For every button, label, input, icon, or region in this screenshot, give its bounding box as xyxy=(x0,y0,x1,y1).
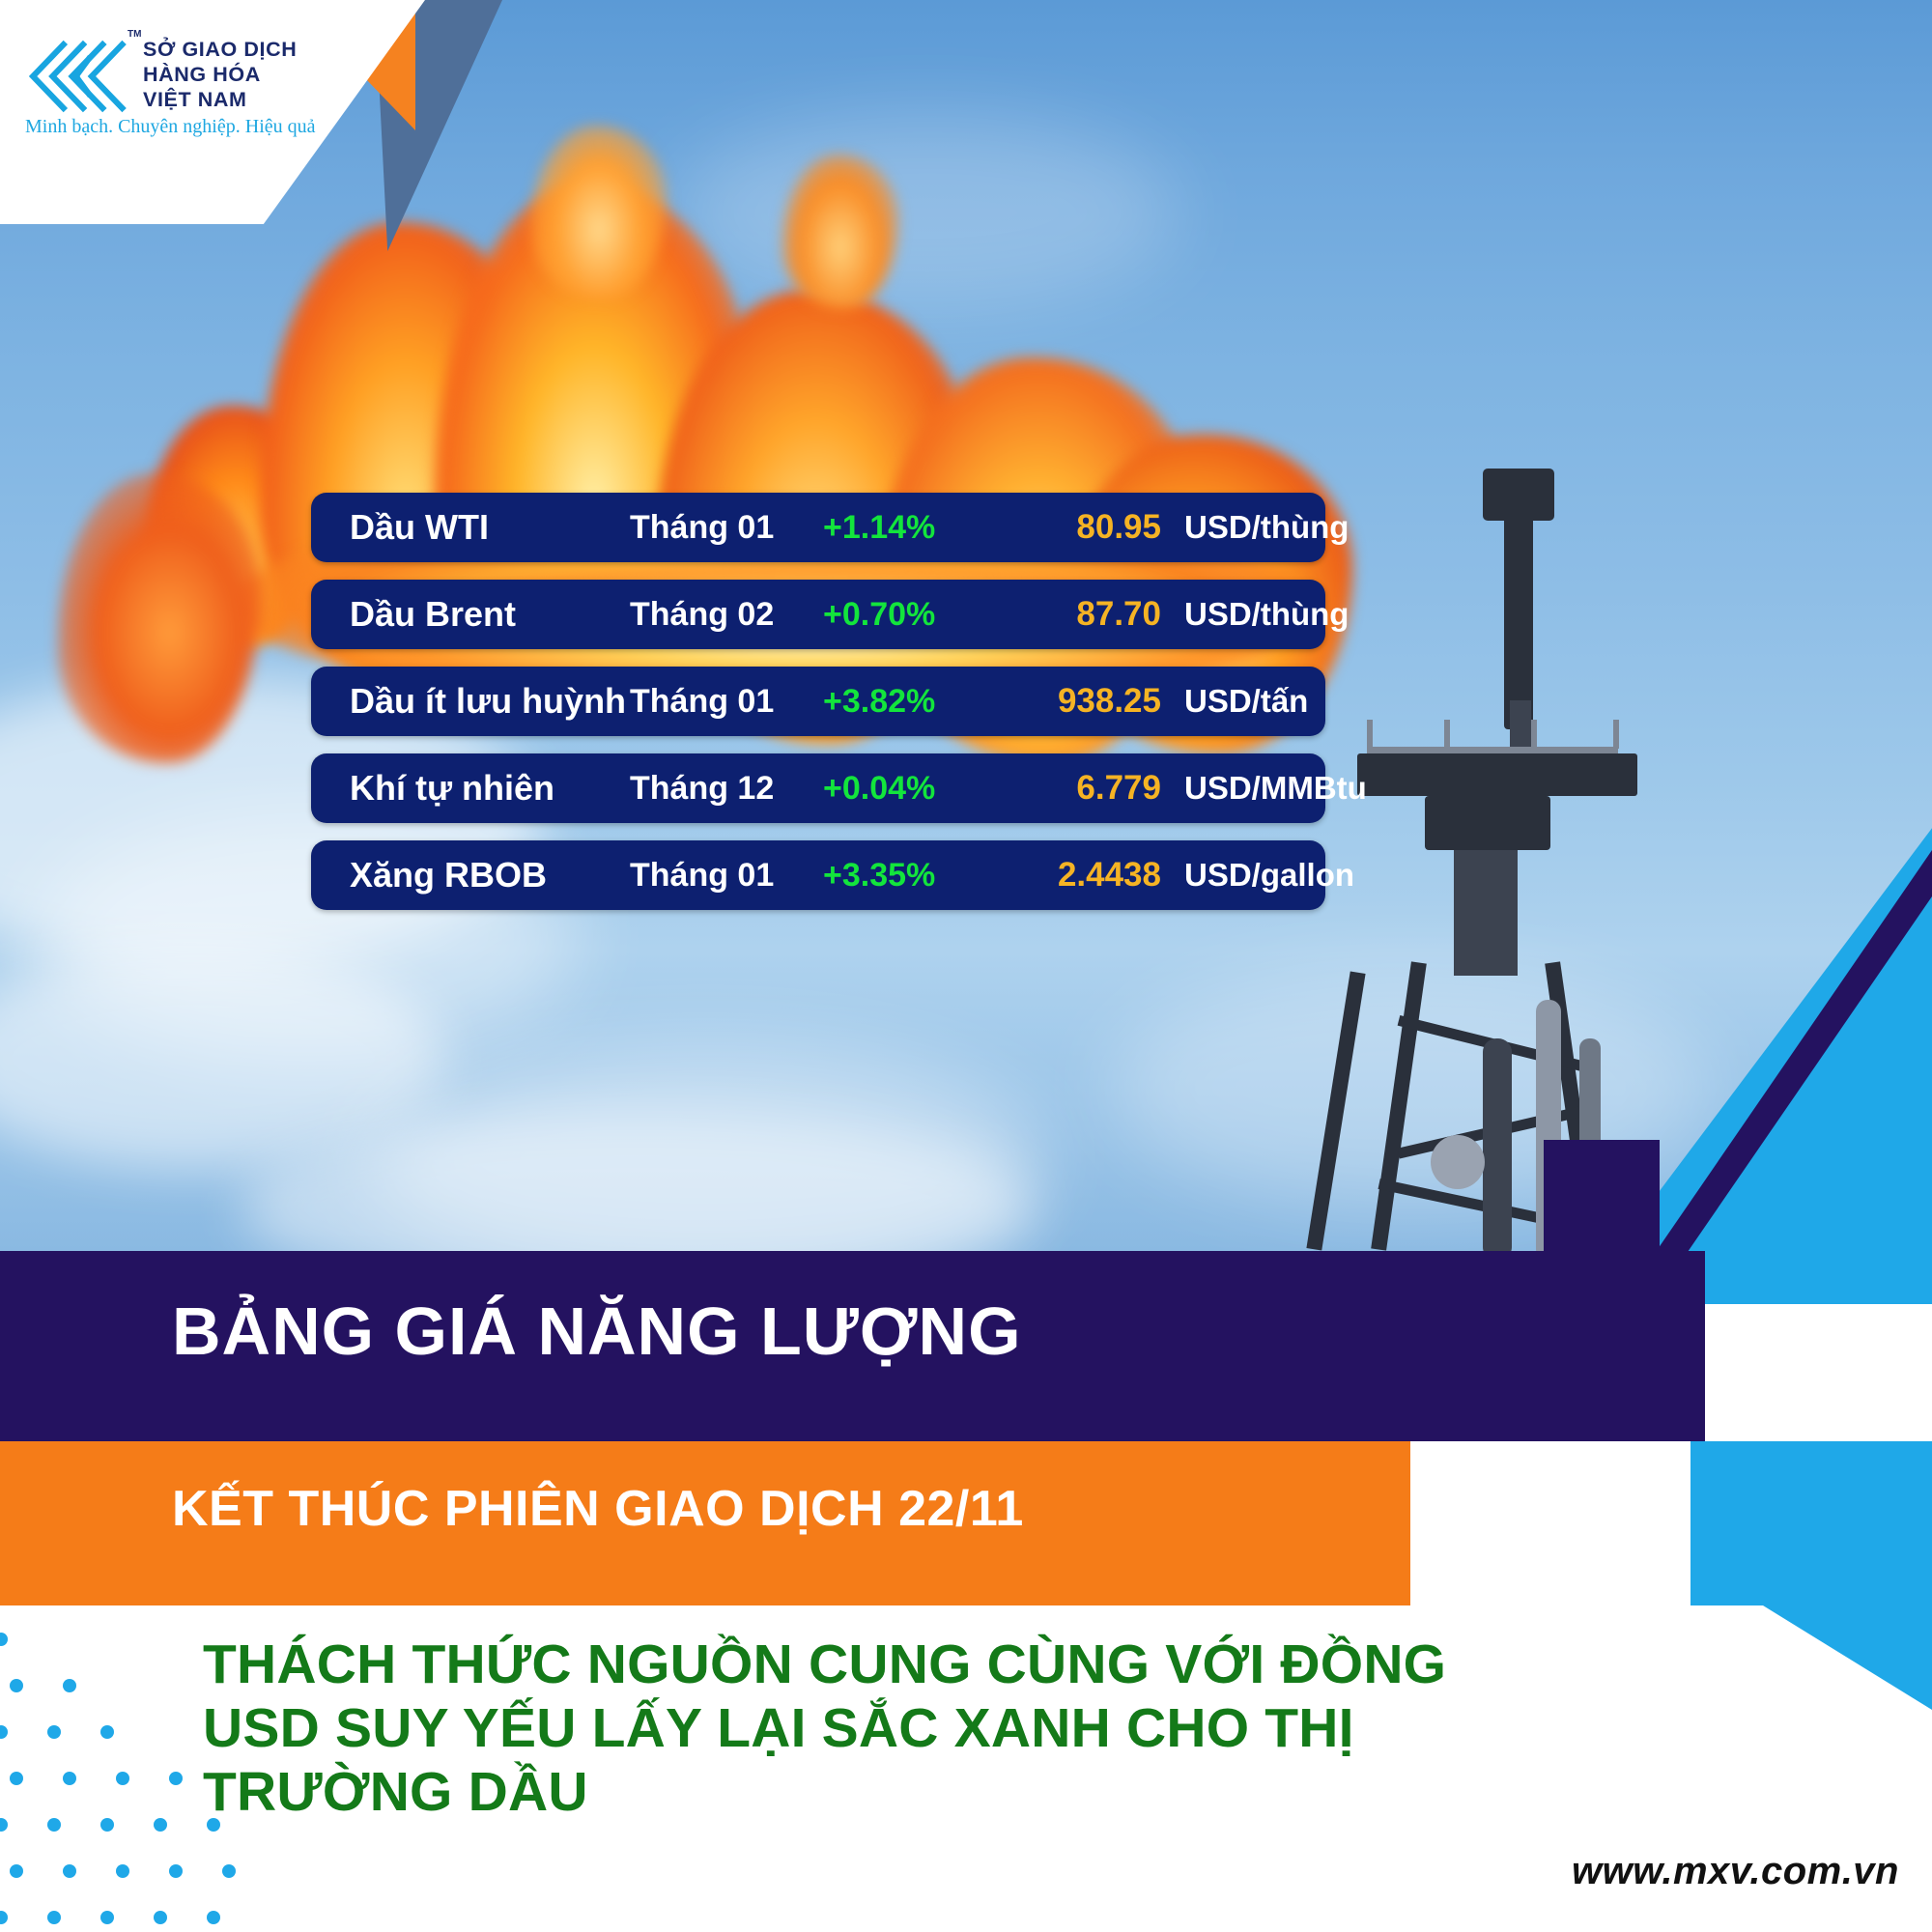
table-row: Xăng RBOB Tháng 01 +3.35% 2.4438 USD/gal… xyxy=(311,840,1325,910)
navy-corner-block xyxy=(1544,1140,1660,1254)
table-row: Dầu ít lưu huỳnh Tháng 01 +3.82% 938.25 … xyxy=(311,667,1325,736)
price-unit: USD/gallon xyxy=(1161,857,1354,894)
headline-line-3: TRƯỜNG DẦU xyxy=(203,1760,1652,1824)
price-value: 87.70 xyxy=(1002,595,1161,634)
decorative-dot xyxy=(0,1911,8,1924)
price-unit: USD/thùng xyxy=(1161,509,1349,546)
price-change: +1.14% xyxy=(823,509,1002,547)
trademark-symbol: TM xyxy=(128,29,141,40)
decorative-dot xyxy=(100,1911,114,1924)
decorative-dot xyxy=(100,1818,114,1832)
page-title: BẢNG GIÁ NĂNG LƯỢNG xyxy=(172,1293,1022,1370)
price-change: +0.04% xyxy=(823,770,1002,808)
website-url[interactable]: www.mxv.com.vn xyxy=(1572,1850,1899,1893)
contract-month: Tháng 01 xyxy=(630,683,823,721)
decorative-dot xyxy=(63,1864,76,1878)
decorative-dot xyxy=(222,1864,236,1878)
contract-month: Tháng 01 xyxy=(630,509,823,547)
decorative-dot xyxy=(169,1772,183,1785)
commodity-name: Dầu ít lưu huỳnh xyxy=(311,681,630,722)
commodity-name: Xăng RBOB xyxy=(311,855,630,895)
price-change: +0.70% xyxy=(823,596,1002,634)
article-headline: THÁCH THỨC NGUỒN CUNG CÙNG VỚI ĐỒNG USD … xyxy=(203,1633,1652,1824)
price-value: 80.95 xyxy=(1002,508,1161,547)
contract-month: Tháng 02 xyxy=(630,596,823,634)
oil-rig-structure xyxy=(1338,584,1724,1251)
decorative-dot xyxy=(100,1725,114,1739)
brand-logo: TM SỞ GIAO DỊCH HÀNG HÓA VIỆT NAM xyxy=(25,37,297,116)
headline-line-2: USD SUY YẾU LẤY LẠI SẮC XANH CHO THỊ xyxy=(203,1696,1652,1760)
decorative-dot-grid xyxy=(0,1633,222,1932)
price-change: +3.82% xyxy=(823,683,1002,721)
table-row: Dầu WTI Tháng 01 +1.14% 80.95 USD/thùng xyxy=(311,493,1325,562)
decorative-dot xyxy=(169,1864,183,1878)
brand-name-line3: VIỆT NAM xyxy=(143,87,297,112)
decorative-dot xyxy=(10,1864,23,1878)
mxv-chevron-logo-icon xyxy=(25,37,129,116)
decorative-dot xyxy=(47,1818,61,1832)
decorative-dot xyxy=(0,1818,8,1832)
price-unit: USD/MMBtu xyxy=(1161,770,1367,807)
contract-month: Tháng 12 xyxy=(630,770,823,808)
decorative-dot xyxy=(10,1772,23,1785)
decorative-dot xyxy=(116,1772,129,1785)
brand-name-line1: SỞ GIAO DỊCH xyxy=(143,37,297,62)
energy-price-table: Dầu WTI Tháng 01 +1.14% 80.95 USD/thùng … xyxy=(311,493,1325,927)
price-unit: USD/thùng xyxy=(1161,596,1349,633)
decorative-dot xyxy=(47,1725,61,1739)
brand-tagline: Minh bạch. Chuyên nghiệp. Hiệu quả xyxy=(25,116,316,138)
price-change: +3.35% xyxy=(823,857,1002,895)
decorative-dot xyxy=(0,1633,8,1646)
commodity-name: Dầu Brent xyxy=(311,594,630,635)
table-row: Khí tự nhiên Tháng 12 +0.04% 6.779 USD/M… xyxy=(311,753,1325,823)
decorative-dot xyxy=(0,1725,8,1739)
price-value: 2.4438 xyxy=(1002,856,1161,895)
decorative-dot xyxy=(47,1911,61,1924)
decorative-dot xyxy=(154,1911,167,1924)
cyan-right-block xyxy=(1690,1441,1932,1605)
decorative-dot xyxy=(63,1772,76,1785)
decorative-dot xyxy=(10,1679,23,1692)
decorative-dot xyxy=(207,1911,220,1924)
page-subtitle: KẾT THÚC PHIÊN GIAO DỊCH 22/11 xyxy=(172,1480,1024,1538)
price-unit: USD/tấn xyxy=(1161,683,1325,720)
cyan-corner-accent xyxy=(1763,1605,1932,1837)
contract-month: Tháng 01 xyxy=(630,857,823,895)
headline-line-1: THÁCH THỨC NGUỒN CUNG CÙNG VỚI ĐỒNG xyxy=(203,1633,1652,1696)
commodity-name: Khí tự nhiên xyxy=(311,768,630,809)
decorative-dot xyxy=(63,1679,76,1692)
brand-name-line2: HÀNG HÓA xyxy=(143,62,297,87)
decorative-dot xyxy=(154,1818,167,1832)
price-value: 938.25 xyxy=(1002,682,1161,721)
table-row: Dầu Brent Tháng 02 +0.70% 87.70 USD/thùn… xyxy=(311,580,1325,649)
commodity-name: Dầu WTI xyxy=(311,507,630,548)
decorative-dot xyxy=(116,1864,129,1878)
price-value: 6.779 xyxy=(1002,769,1161,808)
